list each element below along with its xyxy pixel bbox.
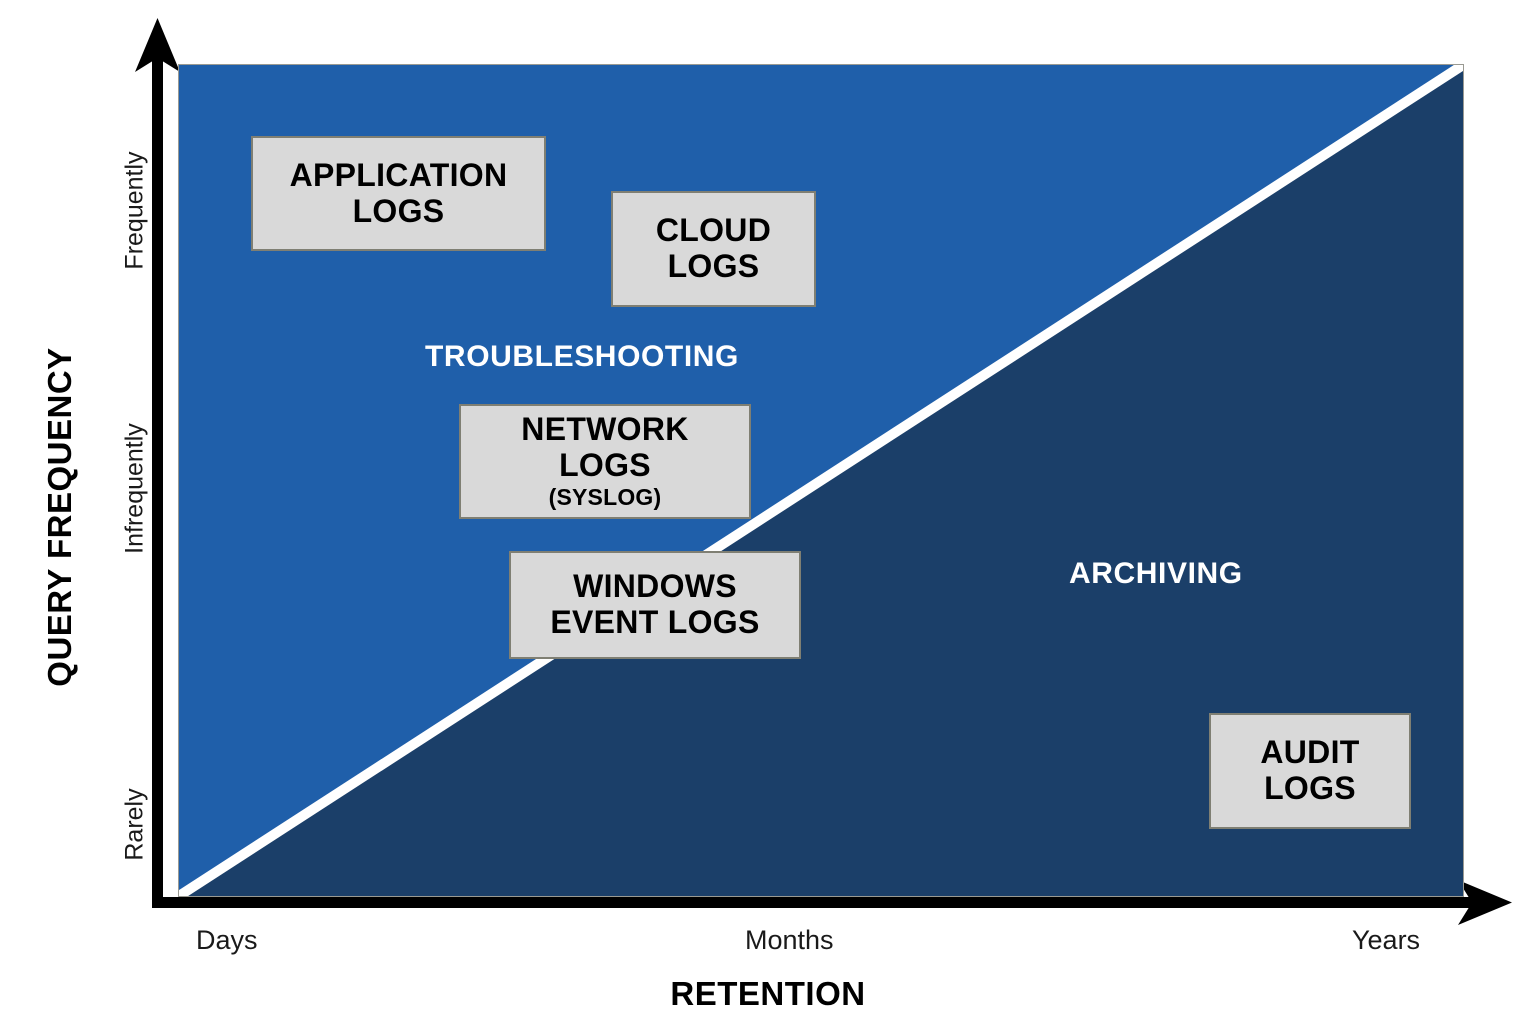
log-box-cloud-line1: CLOUD <box>656 213 771 249</box>
log-box-application[interactable]: APPLICATION LOGS <box>251 136 546 251</box>
log-box-application-line1: APPLICATION <box>290 158 508 194</box>
log-box-windows-line2: EVENT LOGS <box>550 605 759 641</box>
log-box-cloud[interactable]: CLOUD LOGS <box>611 191 816 307</box>
log-box-audit[interactable]: AUDIT LOGS <box>1209 713 1411 829</box>
zone-label-archiving: ARCHIVING <box>1069 557 1243 591</box>
log-box-network[interactable]: NETWORK LOGS (SYSLOG) <box>459 404 751 519</box>
log-box-windows[interactable]: WINDOWS EVENT LOGS <box>509 551 801 659</box>
x-tick-months: Months <box>745 925 834 956</box>
log-box-windows-line1: WINDOWS <box>573 569 737 605</box>
y-tick-frequently: Frequently <box>121 111 150 311</box>
log-box-audit-line2: LOGS <box>1264 771 1356 807</box>
x-tick-days: Days <box>196 925 258 956</box>
x-tick-years: Years <box>1352 925 1420 956</box>
log-box-audit-line1: AUDIT <box>1260 735 1359 771</box>
x-axis-title: RETENTION <box>0 975 1536 1013</box>
diagram-canvas: QUERY FREQUENCY Frequently Infrequently … <box>0 0 1536 1032</box>
y-tick-rarely: Rarely <box>121 750 150 900</box>
log-box-network-subtitle: (SYSLOG) <box>549 485 662 511</box>
plot-area: TROUBLESHOOTING ARCHIVING APPLICATION LO… <box>178 64 1464 897</box>
y-tick-infrequently: Infrequently <box>121 374 150 604</box>
log-box-application-line2: LOGS <box>353 194 445 230</box>
log-box-network-line1: NETWORK <box>521 412 688 448</box>
log-box-cloud-line2: LOGS <box>668 249 760 285</box>
log-box-network-line2: LOGS <box>559 448 651 484</box>
y-axis-title: QUERY FREQUENCY <box>41 207 79 827</box>
zone-label-troubleshooting: TROUBLESHOOTING <box>425 340 739 374</box>
